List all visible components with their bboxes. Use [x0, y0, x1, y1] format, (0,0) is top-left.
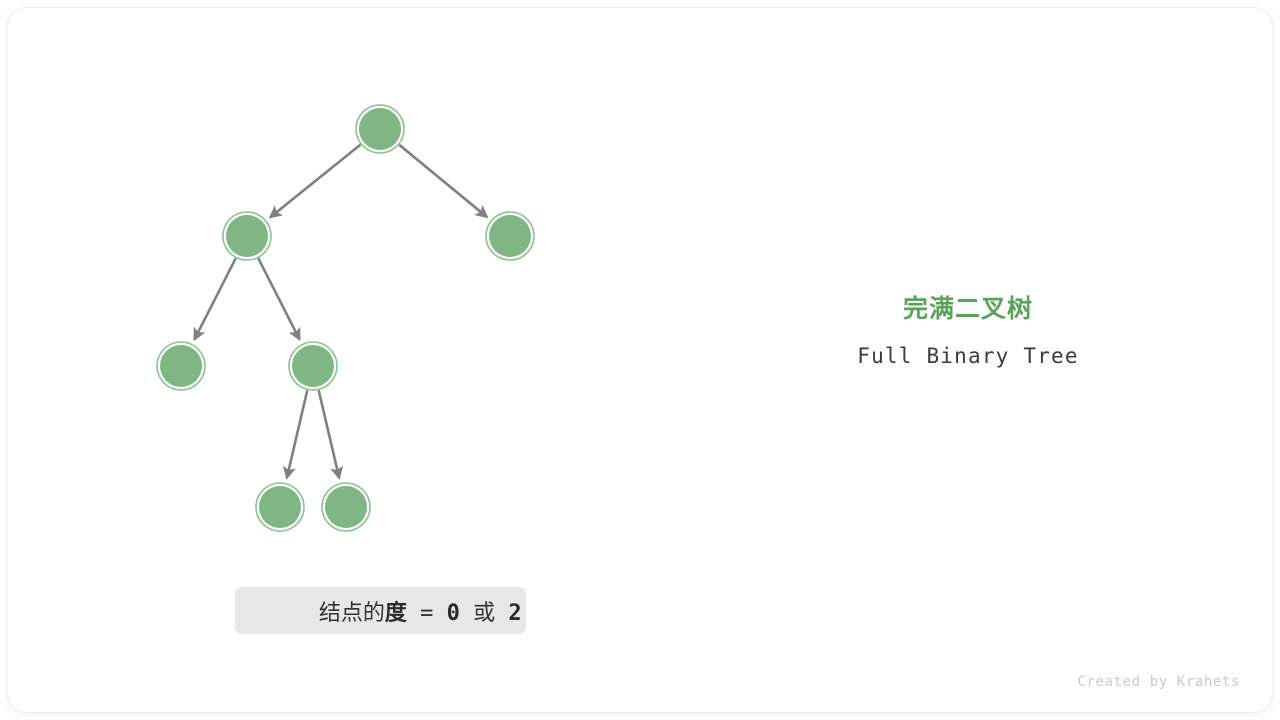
tree-edge	[319, 390, 339, 477]
tree-node-n-right[interactable]	[486, 212, 534, 260]
tree-node-circle	[292, 345, 334, 387]
tree-edge	[287, 390, 307, 477]
tree-node-layer	[157, 105, 534, 531]
tree-edge	[399, 145, 487, 217]
credit-text: Created by Krahets	[900, 674, 1240, 690]
tree-node-n-left-left[interactable]	[157, 342, 205, 390]
title-english: Full Binary Tree	[768, 341, 1168, 371]
tree-node-root[interactable]	[356, 105, 404, 153]
figure-title-block: 完满二叉树 Full Binary Tree	[768, 292, 1168, 371]
tree-node-circle	[489, 215, 531, 257]
degree-caption-box: 结点的度 = 0 或 2	[235, 587, 526, 634]
tree-edge-layer	[195, 145, 487, 478]
tree-edge	[270, 145, 360, 218]
tree-node-circle	[226, 215, 268, 257]
tree-node-circle	[259, 486, 301, 528]
tree-node-n-leaf-b[interactable]	[322, 483, 370, 531]
caption-emphasis-degree: 度	[385, 601, 407, 626]
tree-node-circle	[325, 486, 367, 528]
tree-edge	[258, 258, 299, 339]
tree-node-circle	[359, 108, 401, 150]
tree-node-n-leaf-a[interactable]	[256, 483, 304, 531]
caption-value-zero: 0	[447, 601, 460, 626]
tree-node-n-left[interactable]	[223, 212, 271, 260]
figure-canvas: 完满二叉树 Full Binary Tree 结点的度 = 0 或 2 Crea…	[0, 0, 1280, 720]
title-chinese: 完满二叉树	[768, 292, 1168, 326]
tree-node-n-left-right[interactable]	[289, 342, 337, 390]
caption-operator: =	[407, 601, 447, 626]
caption-prefix: 结点的	[319, 601, 385, 626]
tree-node-circle	[160, 345, 202, 387]
tree-edge	[195, 258, 236, 339]
degree-caption-text: 结点的度 = 0 或 2	[239, 570, 521, 652]
caption-value-two: 2	[508, 601, 521, 626]
caption-conjunction: 或	[460, 601, 509, 626]
